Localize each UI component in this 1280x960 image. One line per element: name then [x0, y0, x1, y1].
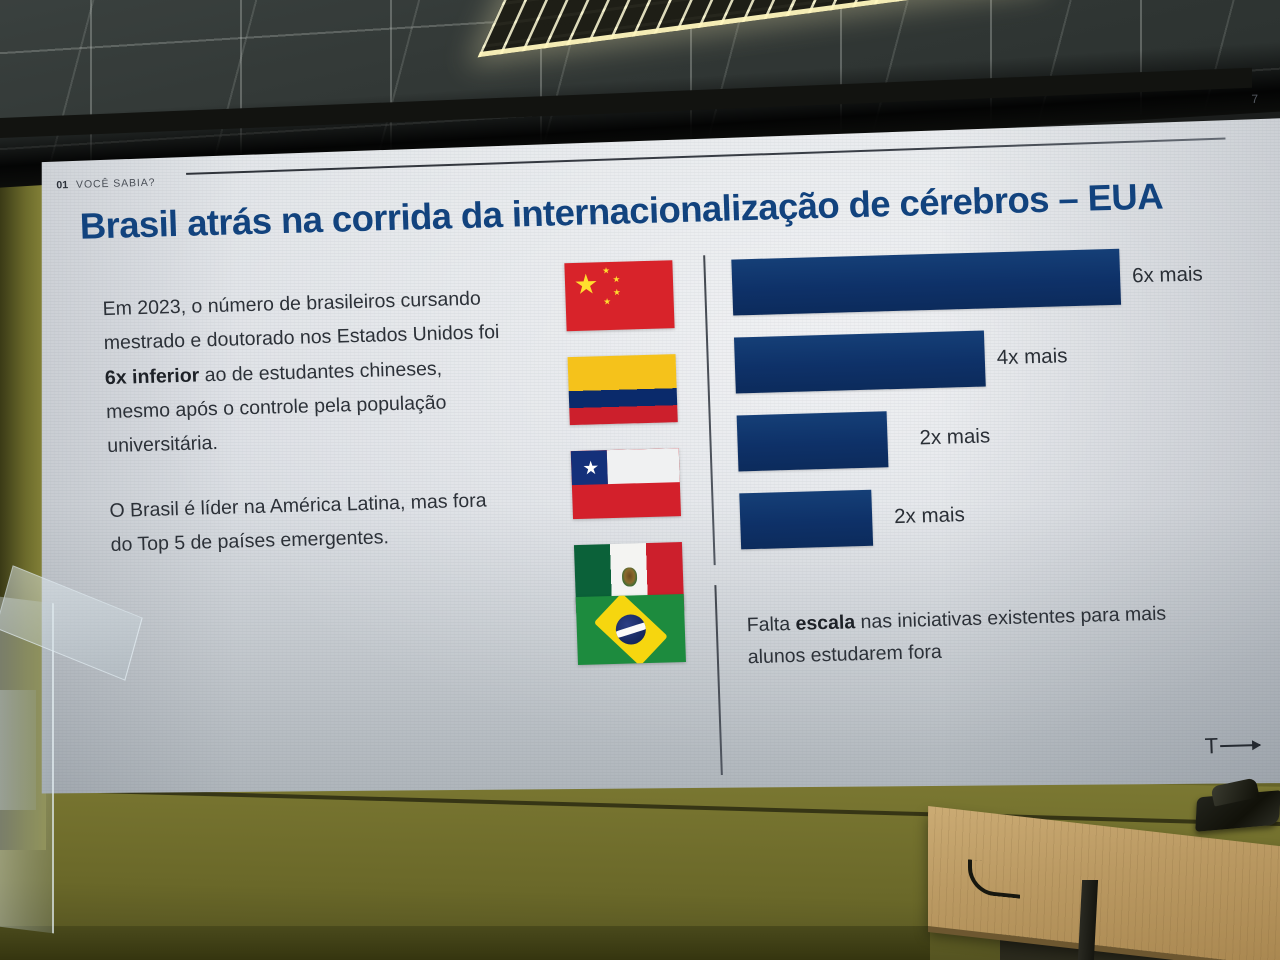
body-copy: Em 2023, o número de brasileiros cursand… [102, 281, 511, 562]
bar-china [731, 249, 1121, 316]
note-text-a: Falta [746, 613, 796, 636]
arrow-right-icon [1220, 744, 1260, 747]
mexico-emblem-icon [622, 567, 638, 586]
brazil-banner-band [615, 620, 646, 640]
lectern-post [0, 690, 36, 810]
bar-label-china: 6x mais [1132, 262, 1203, 288]
flag-column [564, 260, 697, 639]
brand-logo: T [1204, 732, 1260, 760]
paragraph-1-emphasis: 6x inferior [105, 364, 200, 389]
bar-row-mexico: 2x mais [739, 487, 742, 565]
bar-colombia [734, 331, 986, 394]
bar-row-chile: 2x mais [736, 409, 739, 487]
divider-note [714, 585, 722, 775]
page-title: Brasil atrás na corrida da internacional… [79, 174, 1270, 248]
divider-chart [703, 255, 716, 565]
section-number: 01 [56, 179, 68, 191]
floor-strip [0, 926, 930, 960]
chile-star-icon [583, 460, 599, 475]
paragraph-2: O Brasil é líder na América Latina, mas … [109, 483, 511, 563]
bar-mexico [739, 490, 873, 550]
bar-label-chile: 2x mais [919, 424, 990, 450]
breadcrumb: 01 VOCÊ SABIA? [56, 177, 155, 192]
china-star-4-icon [604, 298, 611, 305]
china-flag-icon [564, 260, 674, 331]
note-emphasis: escala [795, 611, 855, 635]
bar-row-colombia: 4x mais [734, 332, 737, 410]
china-star-1-icon [602, 267, 609, 274]
bar-chart: 6x mais 4x mais 2x mais 2x mais [731, 254, 742, 566]
bar-label-mexico: 2x mais [894, 503, 965, 529]
china-star-large-icon [575, 273, 598, 296]
bar-label-colombia: 4x mais [996, 344, 1067, 370]
brazil-flag-icon [576, 594, 686, 665]
chile-canton [571, 450, 608, 485]
chile-white-band [607, 448, 680, 484]
room-photo-scene: 01 VOCÊ SABIA? 7 Brasil atrás na corrida… [0, 0, 1280, 960]
china-star-3-icon [613, 289, 620, 296]
colombia-flag-icon [568, 354, 678, 425]
chile-flag-icon [571, 448, 681, 519]
brand-letter: T [1204, 733, 1218, 759]
bar-chile [737, 411, 889, 471]
callout-note: Falta escala nas iniciativas existentes … [746, 597, 1218, 673]
section-label: VOCÊ SABIA? [76, 177, 156, 191]
china-star-2-icon [613, 276, 620, 283]
presentation-slide: 01 VOCÊ SABIA? 7 Brasil atrás na corrida… [26, 83, 1280, 817]
brazil-flag-wrapper [576, 594, 686, 665]
bar-row-china: 6x mais [731, 254, 734, 332]
page-number: 7 [1251, 92, 1258, 106]
paragraph-1: Em 2023, o número de brasileiros cursand… [102, 281, 508, 464]
header-rule [186, 138, 1225, 175]
paragraph-1-text-a: Em 2023, o número de brasileiros cursand… [102, 288, 499, 355]
